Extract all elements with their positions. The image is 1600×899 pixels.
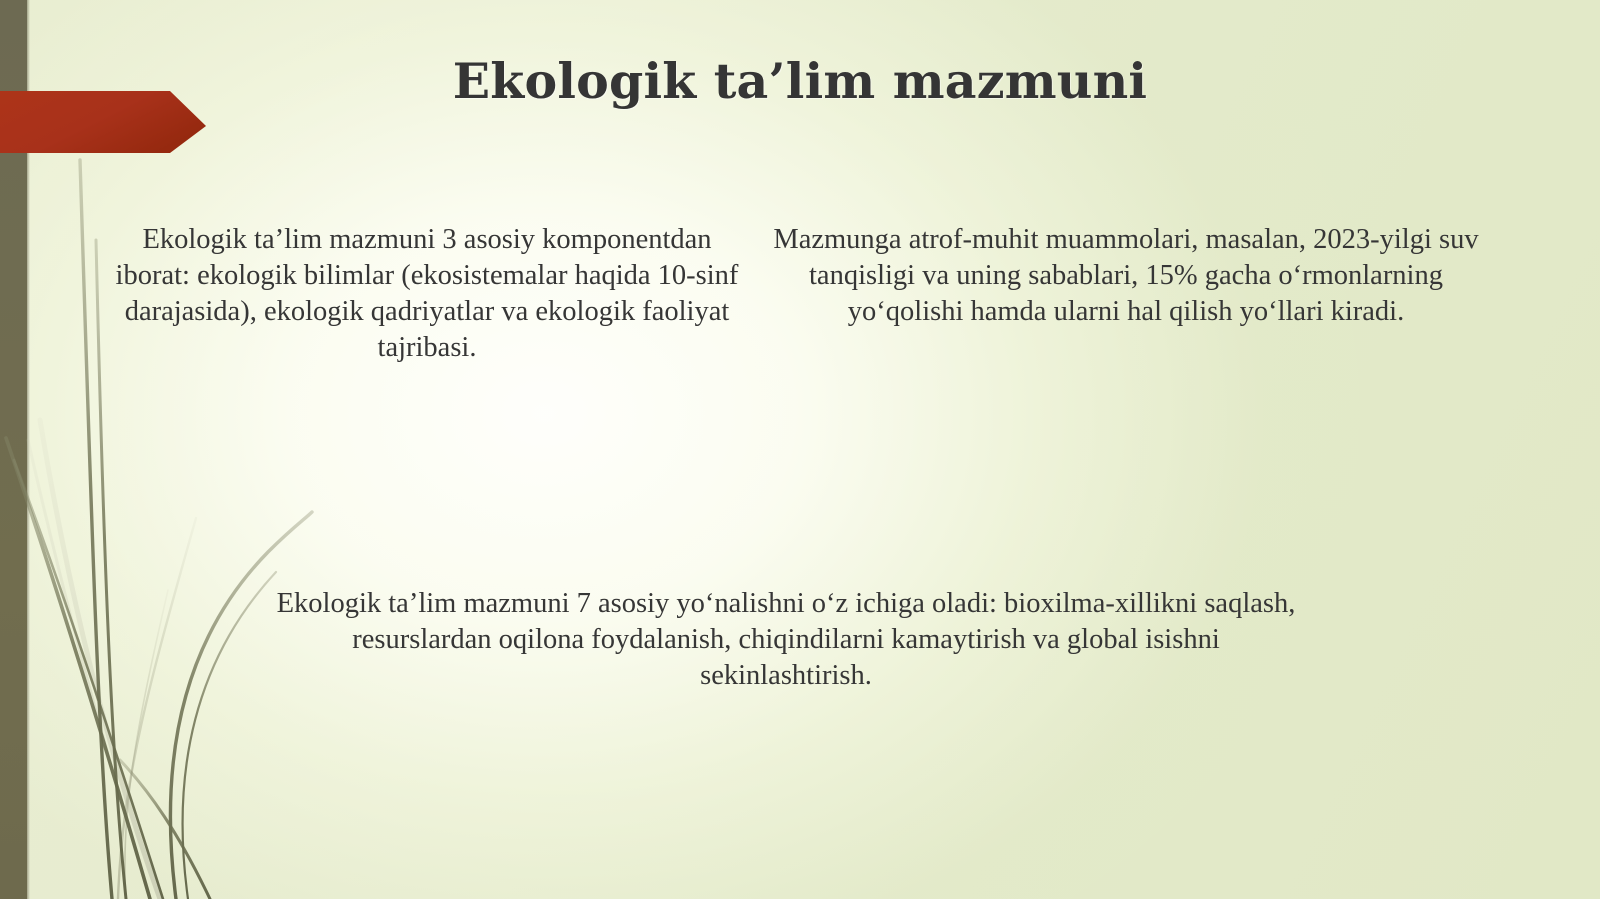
slide-canvas: Ekologik ta’lim mazmuni Ekologik ta’lim … [0, 0, 1600, 899]
text-block-bottom: Ekologik ta’lim mazmuni 7 asosiy yo‘nali… [266, 586, 1306, 694]
slide-title: Ekologik ta’lim mazmuni [0, 52, 1600, 110]
text-block-left: Ekologik ta’lim mazmuni 3 asosiy kompone… [112, 222, 742, 366]
text-block-right: Mazmunga atrof-muhit muammolari, masalan… [770, 222, 1482, 330]
